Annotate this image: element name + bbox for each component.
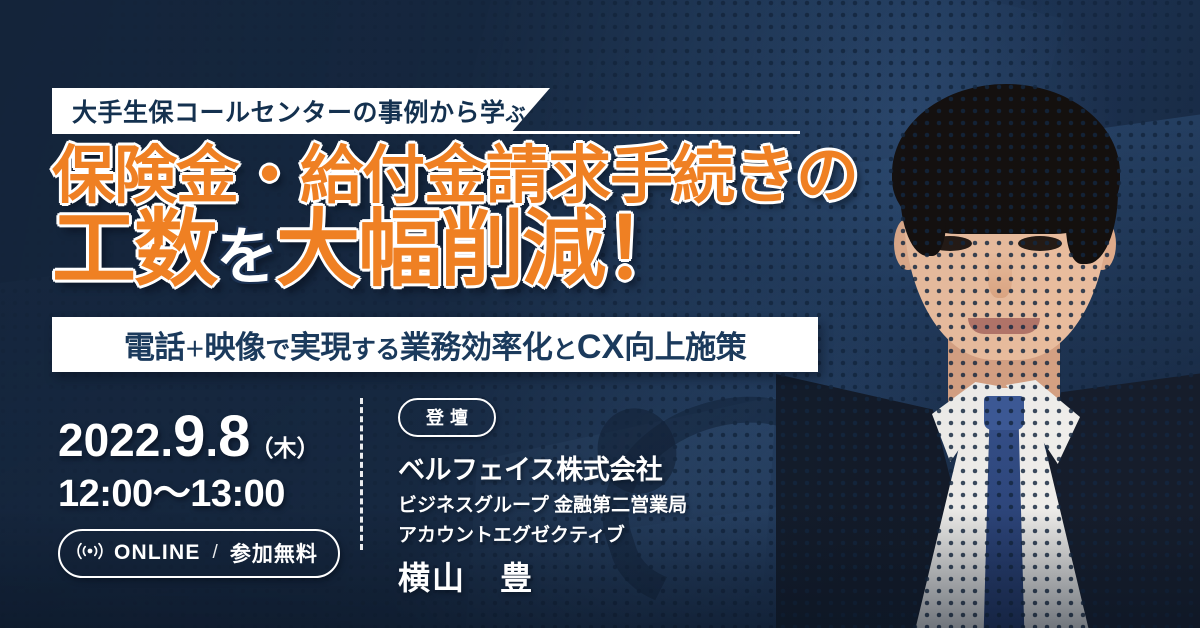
- headline-line-2: 工数を大幅削減！: [52, 206, 872, 293]
- speaker-department: ビジネスグループ 金融第二営業局: [398, 490, 698, 517]
- subtitle-bar: 電話＋映像で実現する業務効率化とCX向上施策: [52, 317, 818, 372]
- subtitle-seg-6: 業務効率化: [400, 330, 553, 365]
- ribbon-underline: [52, 131, 800, 134]
- headline-line-1: 保険金・給付金請求手続きの: [52, 142, 872, 210]
- event-year: 2022: [58, 414, 160, 466]
- event-day-of-week: （木）: [250, 435, 319, 461]
- event-day: 8: [218, 404, 250, 469]
- subtitle-text: 電話＋映像で実現する業務効率化とCX向上施策: [124, 322, 746, 367]
- eyebrow-text-main: 大手生保コールセンターの事例から学: [72, 99, 506, 127]
- eyebrow-ribbon: 大手生保コールセンターの事例から学ぶ: [52, 88, 550, 134]
- speaker-role: アカウントエグゼクティブ: [398, 520, 698, 547]
- online-free-badge: ONLINE / 参加無料: [58, 529, 340, 578]
- subtitle-seg-2: 映像: [204, 330, 265, 365]
- event-month: 9: [173, 404, 205, 469]
- speaker-company: ベルフェイス株式会社: [398, 448, 698, 487]
- subtitle-seg-cx: CX: [577, 328, 624, 366]
- subtitle-seg-1: 電話: [124, 330, 185, 365]
- headline-line-2-part-2: を: [216, 223, 276, 292]
- speaker-block: 登壇 ベルフェイス株式会社 ビジネスグループ 金融第二営業局 アカウントエグゼク…: [398, 398, 698, 599]
- subtitle-seg-7: と: [552, 336, 577, 364]
- event-time: 12:00〜13:00: [58, 475, 358, 513]
- eyebrow-text: 大手生保コールセンターの事例から学ぶ: [72, 93, 526, 129]
- headline-line-2-part-3: 大幅削減！: [276, 202, 686, 296]
- badge-separator: /: [213, 542, 218, 564]
- event-info-block: 2022.9.8（木） 12:00〜13:00 ONLINE / 参加無料: [58, 408, 358, 578]
- headline-block: 保険金・給付金請求手続きの 工数を大幅削減！: [52, 142, 872, 293]
- event-date: 2022.9.8（木）: [58, 408, 358, 466]
- speaker-badge: 登壇: [398, 398, 496, 437]
- online-label: ONLINE: [114, 541, 201, 565]
- broadcast-signal-icon: [76, 542, 104, 565]
- headline-line-2-part-1: 工数: [52, 202, 216, 296]
- section-divider: [360, 398, 363, 550]
- event-date-dot-2: .: [205, 414, 218, 466]
- event-date-dot-1: .: [160, 414, 173, 466]
- subtitle-plus-sign: ＋: [185, 339, 205, 361]
- subtitle-seg-9: 向上施策: [624, 330, 746, 365]
- subtitle-seg-3: で: [265, 336, 290, 364]
- subtitle-seg-5: する: [351, 336, 400, 364]
- free-entry-label: 参加無料: [230, 538, 318, 568]
- subtitle-seg-4: 実現: [290, 330, 351, 365]
- webinar-banner: 大手生保コールセンターの事例から学ぶ 保険金・給付金請求手続きの 工数を大幅削減…: [0, 0, 1200, 628]
- speaker-name: 横山 豊: [398, 553, 698, 599]
